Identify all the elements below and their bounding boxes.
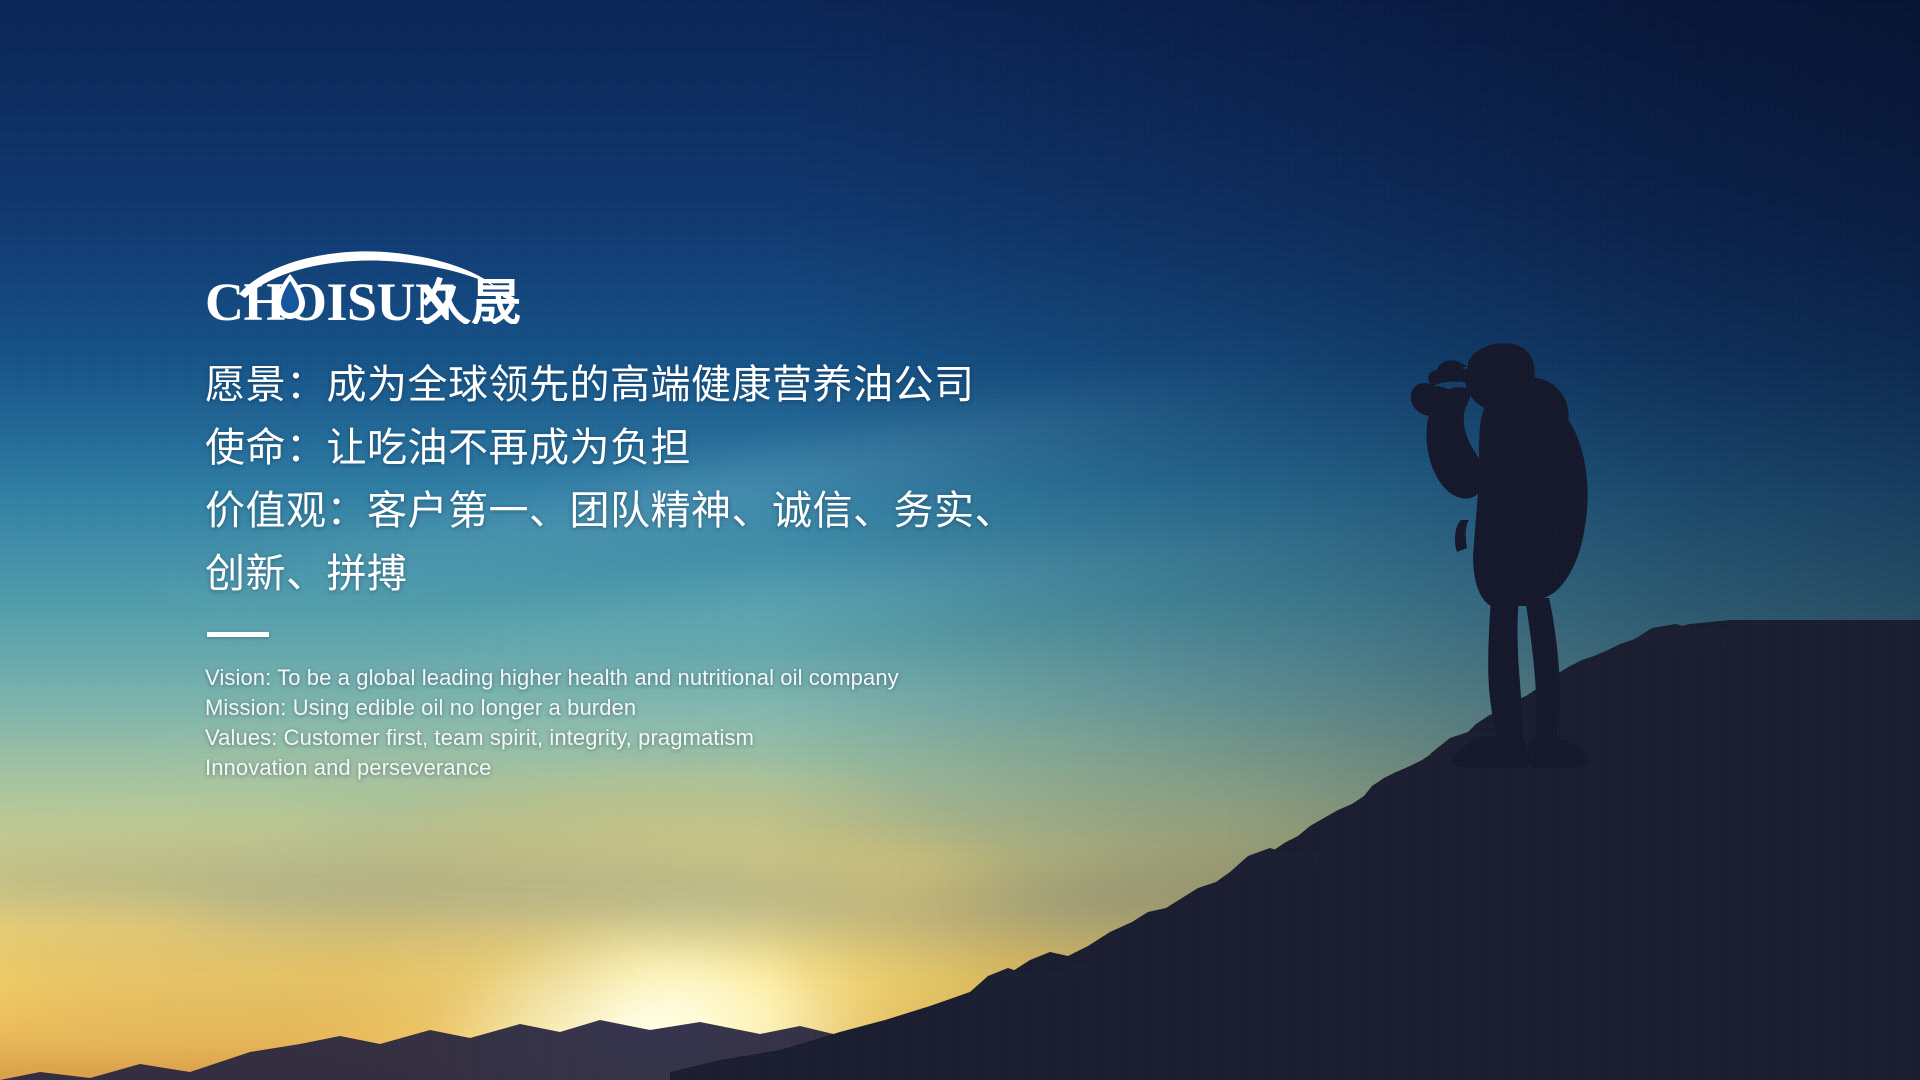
values-line-en: Values: Customer first, team spirit, int… (205, 723, 1205, 753)
content-block: CHOISUN 久晟 愿景：成为全球领先的高端健康营养油公司 使命：让吃油不再成… (205, 248, 1205, 783)
logo-latin-text: CHOISUN (205, 272, 454, 324)
hiker-silhouette-icon (1395, 340, 1635, 770)
brand-logo[interactable]: CHOISUN 久晟 (205, 248, 535, 320)
brand-banner: CHOISUN 久晟 愿景：成为全球领先的高端健康营养油公司 使命：让吃油不再成… (0, 0, 1920, 1080)
logo-artwork: CHOISUN 久晟 (205, 248, 535, 324)
values-line-en-cont: Innovation and perseverance (205, 753, 1205, 783)
values-line-cn-cont: 创新、拼搏 (205, 543, 1205, 606)
logo-cn-text: 久晟 (421, 273, 521, 324)
vision-line-en: Vision: To be a global leading higher he… (205, 663, 1205, 693)
statements-chinese: 愿景：成为全球领先的高端健康营养油公司 使命：让吃油不再成为负担 价值观：客户第… (205, 354, 1205, 606)
values-line-cn: 价值观：客户第一、团队精神、诚信、务实、 (205, 480, 1205, 543)
vision-line-cn: 愿景：成为全球领先的高端健康营养油公司 (205, 354, 1205, 417)
section-divider (207, 632, 269, 637)
mission-line-cn: 使命：让吃油不再成为负担 (205, 417, 1205, 480)
statements-english: Vision: To be a global leading higher he… (205, 663, 1205, 783)
mission-line-en: Mission: Using edible oil no longer a bu… (205, 693, 1205, 723)
